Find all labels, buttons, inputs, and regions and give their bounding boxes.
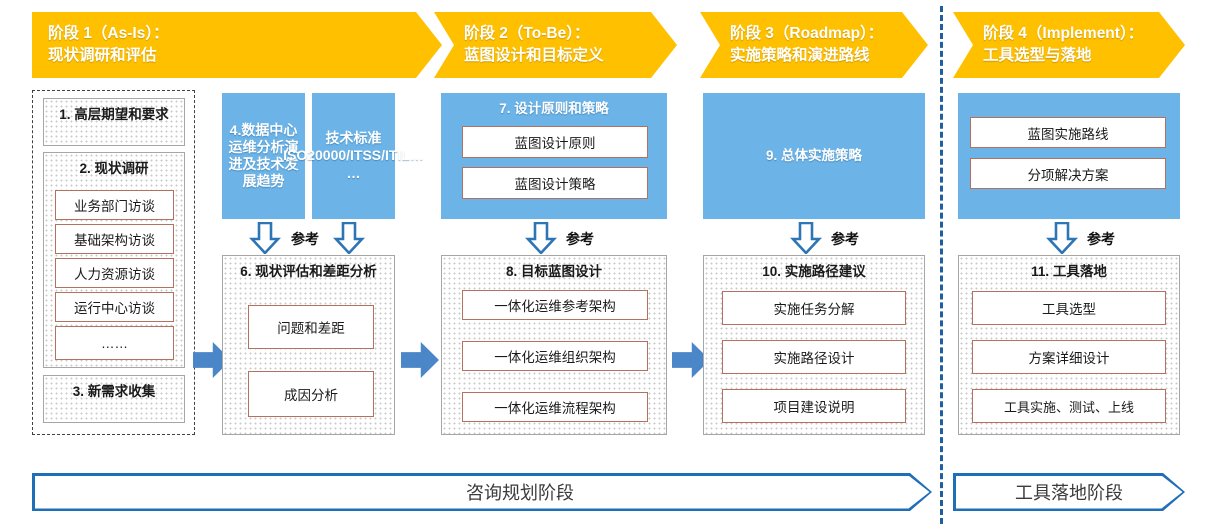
phase-4-line1: 阶段 4（Implement）： (983, 23, 1155, 45)
phase-3-line2: 实施策略和演进路线 (730, 45, 898, 67)
item-label: 人力资源访谈 (74, 263, 155, 283)
reference-label: 参考 (291, 229, 319, 249)
phase-2-line2: 蓝图设计和目标定义 (464, 45, 647, 67)
panel-8-title: 8. 目标蓝图设计 (442, 256, 666, 281)
panel-1-high-level-expectations: 1. 高层期望和要求 (43, 98, 185, 146)
list-item[interactable]: 实施任务分解 (722, 291, 906, 325)
phase-banner-1: 阶段 1（As-Is）： 现状调研和评估 (32, 12, 442, 78)
panel-tech-standards: 技术标准ISO20000/ITSS/ITIL… … (312, 93, 395, 219)
bottom-banner-right-label: 工具落地阶段 (1015, 479, 1123, 505)
item-label: 一体化运维组织架构 (494, 346, 616, 366)
list-item[interactable]: 工具选型 (972, 291, 1166, 325)
phase-banner-4: 阶段 4（Implement）： 工具选型与落地 (953, 12, 1185, 78)
list-item[interactable]: …… (55, 326, 174, 360)
item-label: 实施任务分解 (774, 298, 855, 318)
panel-6-title: 6. 现状评估和差距分析 (223, 256, 394, 281)
phase-4-line2: 工具选型与落地 (983, 45, 1155, 67)
list-item[interactable]: 基础架构访谈 (55, 224, 174, 254)
item-label: 蓝图设计策略 (515, 173, 596, 193)
item-label: 运行中心访谈 (74, 297, 155, 317)
panel-9-title: 9. 总体实施策略 (766, 147, 862, 165)
list-item[interactable]: 项目建设说明 (722, 389, 906, 423)
phase-2-line1: 阶段 2（To-Be）： (464, 23, 647, 45)
list-item[interactable]: 成因分析 (248, 371, 374, 417)
list-item[interactable]: 分项解决方案 (970, 158, 1166, 189)
item-label: 工具选型 (1042, 298, 1096, 318)
reference-down-arrow-icon (525, 222, 557, 254)
list-item[interactable]: 业务部门访谈 (55, 190, 174, 220)
reference-down-arrow-icon (249, 222, 281, 254)
panel-3-new-requirements: 3. 新需求收集 (43, 375, 185, 423)
item-label: 工具实施、测试、上线 (1004, 397, 1134, 416)
item-label: 项目建设说明 (774, 396, 855, 416)
reference-down-arrow-icon (333, 222, 365, 254)
panel-1-title: 1. 高层期望和要求 (44, 99, 184, 124)
diagram-canvas: 阶段 1（As-Is）： 现状调研和评估 阶段 2（To-Be）： 蓝图设计和目… (0, 0, 1217, 530)
reference-label: 参考 (1087, 229, 1115, 249)
panel-3-title: 3. 新需求收集 (44, 376, 184, 401)
item-label: 基础架构访谈 (74, 229, 155, 249)
flow-arrow-icon (401, 342, 439, 378)
list-item[interactable]: 蓝图设计原则 (462, 126, 648, 158)
list-item[interactable]: 一体化运维流程架构 (462, 392, 648, 422)
item-label: 方案详细设计 (1029, 347, 1110, 367)
bottom-banner-consulting-phase: 咨询规划阶段 (32, 473, 932, 511)
phase-banner-2: 阶段 2（To-Be）： 蓝图设计和目标定义 (434, 12, 677, 78)
item-label: 分项解决方案 (1028, 164, 1109, 184)
panel-11-title: 11. 工具落地 (959, 256, 1179, 281)
bottom-banner-left-label: 咨询规划阶段 (466, 479, 574, 505)
reference-down-arrow-icon (1046, 222, 1078, 254)
list-item[interactable]: 实施路径设计 (722, 340, 906, 374)
reference-down-arrow-icon (790, 222, 822, 254)
reference-label: 参考 (566, 229, 594, 249)
panel-10-title: 10. 实施路径建议 (704, 256, 924, 281)
item-label: 蓝图实施路线 (1028, 123, 1109, 143)
item-label: 成因分析 (284, 384, 338, 404)
phase-divider (940, 6, 943, 524)
item-label: 一体化运维流程架构 (494, 397, 616, 417)
item-label: 蓝图设计原则 (515, 132, 596, 152)
panel-2-title: 2. 现状调研 (44, 153, 184, 178)
phase-1-line1: 阶段 1（As-Is）： (48, 23, 412, 45)
phase-3-line1: 阶段 3（Roadmap）： (730, 23, 898, 45)
phase-banner-3: 阶段 3（Roadmap）： 实施策略和演进路线 (700, 12, 928, 78)
item-label: 业务部门访谈 (74, 195, 155, 215)
list-item[interactable]: 方案详细设计 (972, 340, 1166, 374)
panel-7-title: 7. 设计原则和策略 (441, 93, 667, 118)
list-item[interactable]: 人力资源访谈 (55, 258, 174, 288)
list-item[interactable]: 一体化运维组织架构 (462, 341, 648, 371)
list-item[interactable]: 工具实施、测试、上线 (972, 389, 1166, 423)
panel-9-overall-implementation-strategy: 9. 总体实施策略 (703, 93, 925, 219)
bottom-banner-tool-phase: 工具落地阶段 (953, 473, 1185, 511)
phase-1-line2: 现状调研和评估 (48, 45, 412, 67)
item-label: …… (101, 336, 128, 351)
list-item[interactable]: 蓝图实施路线 (970, 117, 1166, 148)
item-label: 问题和差距 (277, 317, 345, 337)
list-item[interactable]: 一体化运维参考架构 (462, 290, 648, 320)
list-item[interactable]: 运行中心访谈 (55, 292, 174, 322)
item-label: 一体化运维参考架构 (494, 295, 616, 315)
tech-standards-text: 技术标准ISO20000/ITSS/ITIL… … (283, 130, 424, 181)
list-item[interactable]: 蓝图设计策略 (462, 167, 648, 199)
panel-blueprint-delivery (958, 93, 1180, 219)
list-item[interactable]: 问题和差距 (248, 305, 374, 349)
reference-label: 参考 (831, 229, 859, 249)
item-label: 实施路径设计 (774, 347, 855, 367)
